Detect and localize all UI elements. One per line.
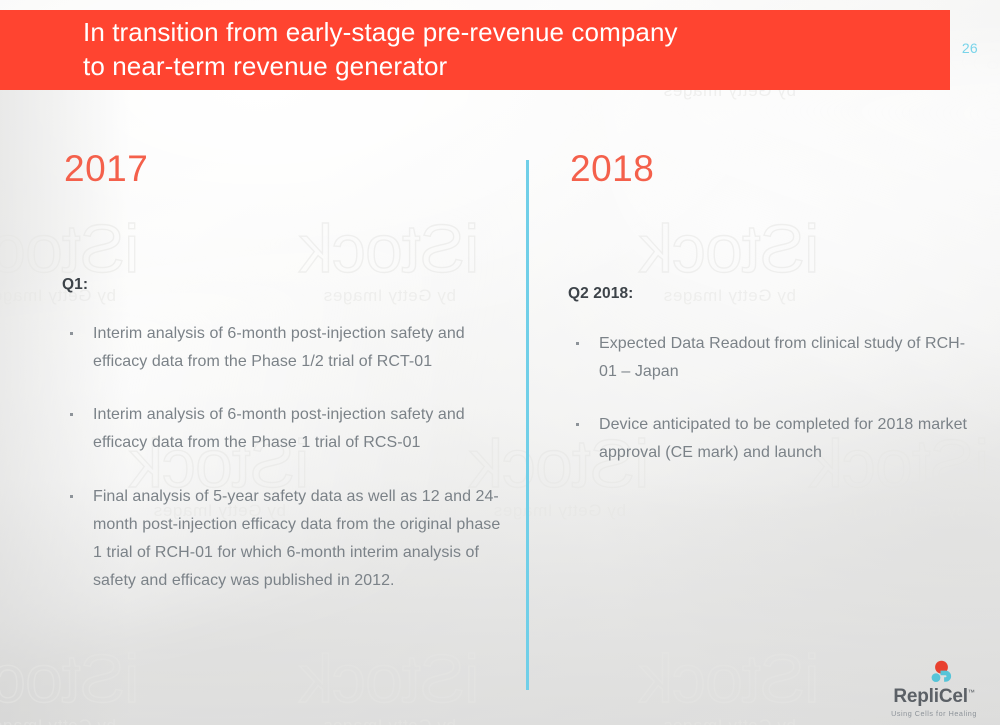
column-divider	[526, 160, 529, 690]
timeline-column-2017: 2017 Q1: Interim analysis of 6-month pos…	[62, 150, 502, 595]
company-logo: RepliCel™ Using Cells for Healing	[882, 660, 986, 717]
year-heading-2018: 2018	[570, 150, 968, 187]
list-item: Interim analysis of 6-month post-injecti…	[62, 401, 502, 457]
quarter-heading-q2-2018: Q2 2018:	[568, 285, 968, 303]
bullet-list-2018: Expected Data Readout from clinical stud…	[568, 330, 968, 468]
logo-trademark: ™	[968, 689, 975, 696]
logo-tagline: Using Cells for Healing	[882, 710, 986, 717]
page-title-line-2: to near-term revenue generator	[83, 49, 903, 83]
quarter-heading-q1: Q1:	[62, 276, 502, 294]
year-heading-2017: 2017	[64, 150, 502, 187]
bullet-list-2017: Interim analysis of 6-month post-injecti…	[62, 320, 502, 595]
slide: iStock by Getty Images iStock by Getty I…	[0, 0, 1000, 725]
list-item: Interim analysis of 6-month post-injecti…	[62, 320, 502, 376]
page-title-line-1: In transition from early-stage pre-reven…	[83, 15, 903, 49]
list-item: Final analysis of 5-year safety data as …	[62, 483, 502, 596]
page-number: 26	[962, 40, 978, 56]
timeline-column-2018: 2018 Q2 2018: Expected Data Readout from…	[568, 150, 968, 468]
list-item: Expected Data Readout from clinical stud…	[568, 330, 968, 386]
logo-wordmark-text: RepliCel	[893, 686, 967, 707]
page-title: In transition from early-stage pre-reven…	[83, 15, 903, 83]
logo-wordmark: RepliCel™	[893, 687, 974, 706]
list-item: Device anticipated to be completed for 2…	[568, 411, 968, 467]
replicel-logo-icon	[882, 660, 986, 686]
